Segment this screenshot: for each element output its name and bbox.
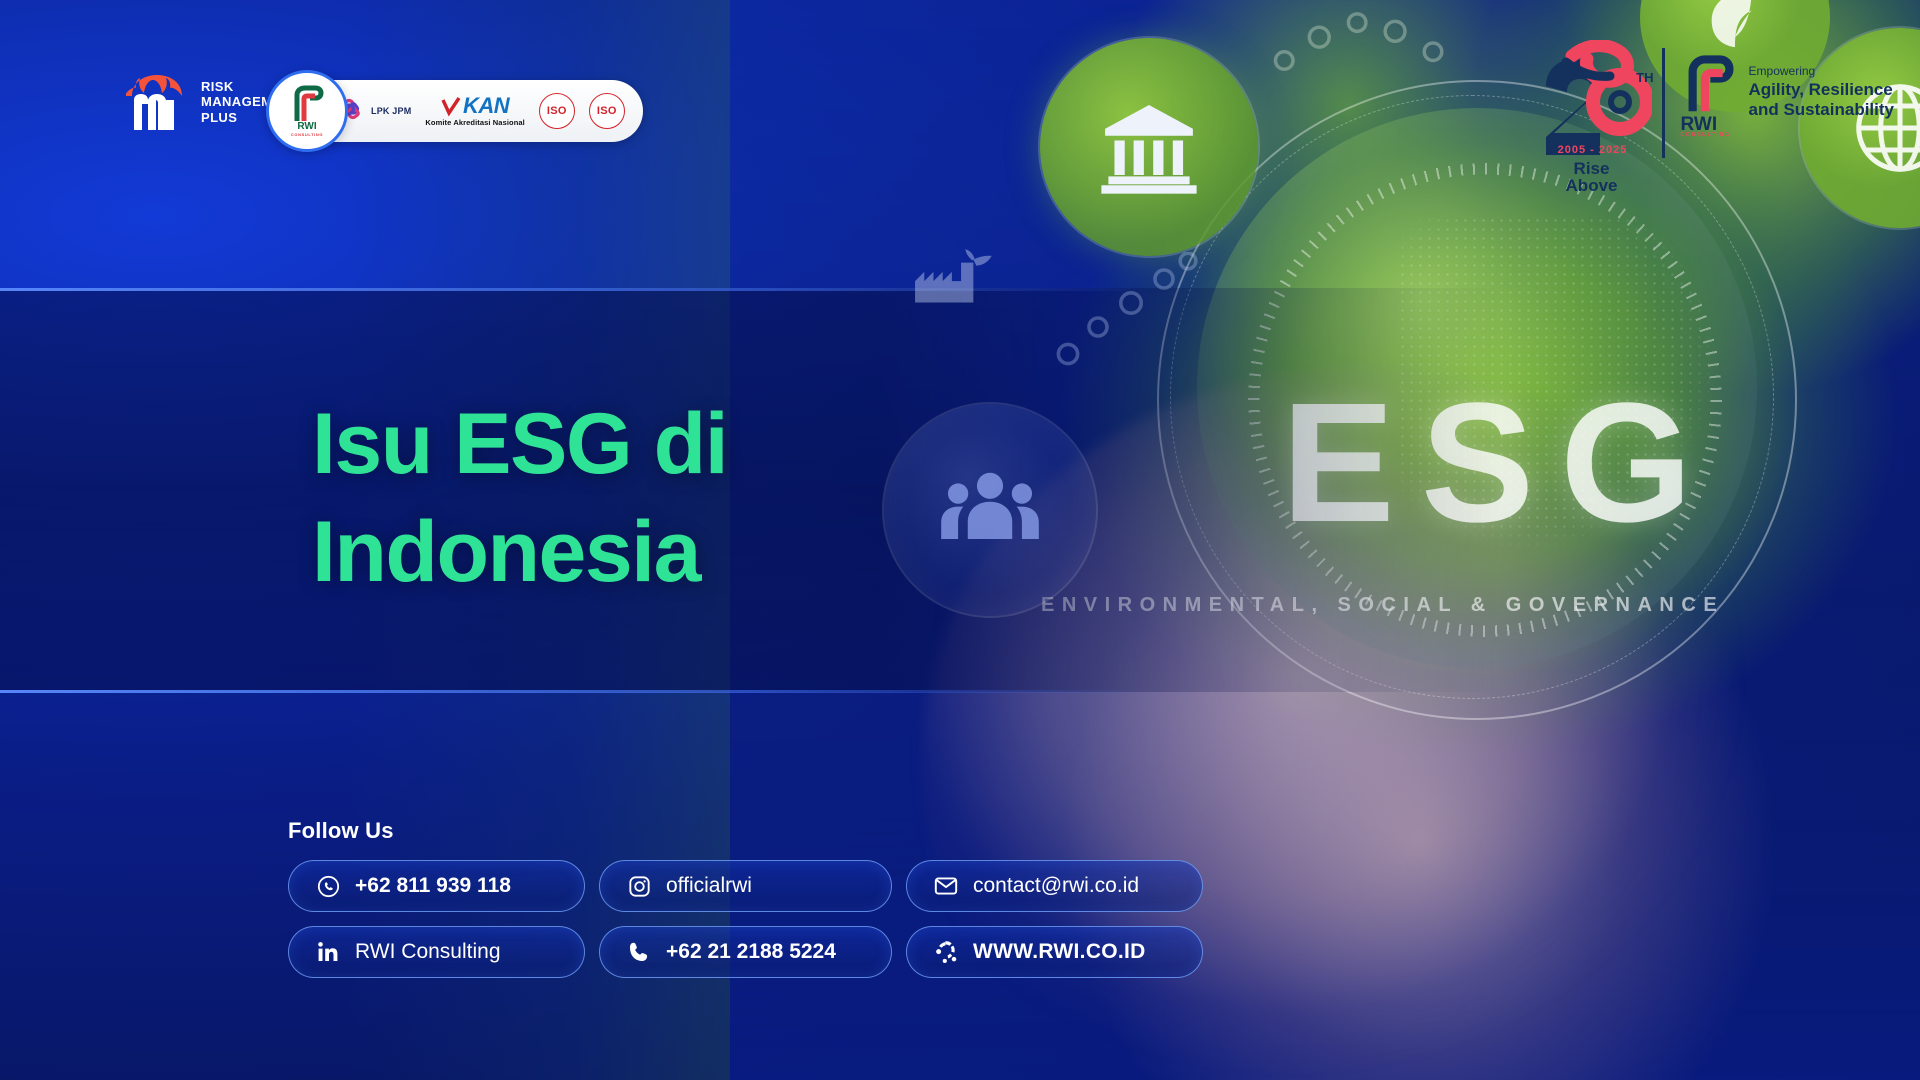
headline-band-bottom-line xyxy=(0,690,1152,693)
anniversary-lockup: TH 2005 - 2025 Rise Above RWI CONSULTING… xyxy=(1532,40,1894,180)
linkedin-icon xyxy=(315,939,341,965)
anniversary-ordinal: TH xyxy=(1636,70,1653,85)
lpk-jpm-label: LPK JPM xyxy=(371,106,411,116)
kan-label: KAN xyxy=(463,96,509,117)
contact-chip-linkedin-label: RWI Consulting xyxy=(355,940,501,964)
environment-factory-leaf-icon xyxy=(912,238,1004,323)
anniversary-tagline: Rise Above xyxy=(1532,160,1652,194)
page-title-line-2: Indonesia xyxy=(312,498,727,606)
anniversary-20-icon xyxy=(1532,40,1652,160)
rwi-tagline-line2: Agility, Resilience xyxy=(1749,80,1894,100)
whatsapp-icon xyxy=(315,873,341,899)
contact-chip-instagram[interactable]: officialrwi xyxy=(599,860,892,912)
network-node-dots xyxy=(1050,252,1200,377)
rwi-logo-icon: RWI CONSULTING xyxy=(1681,54,1737,128)
follow-us-label: Follow Us xyxy=(288,818,1203,844)
certification-badges-pill: RWI CONSULTING LPK JPM KAN Komite Akredi… xyxy=(272,80,643,142)
anniversary-20-mark: TH 2005 - 2025 Rise Above xyxy=(1532,40,1652,180)
anniversary-tagline-line1: Rise xyxy=(1532,160,1652,177)
iso-badge-2: ISO xyxy=(589,93,625,129)
phone-icon xyxy=(626,939,652,965)
contact-row-1: +62 811 939 118 officialrwi contact@rwi.… xyxy=(288,860,1203,912)
rwi-badge-sublabel: CONSULTING xyxy=(291,132,323,137)
kan-sublabel: Komite Akreditasi Nasional xyxy=(425,118,524,127)
contact-chip-whatsapp[interactable]: +62 811 939 118 xyxy=(288,860,585,912)
contact-row-2: RWI Consulting +62 21 2188 5224 xyxy=(288,926,1203,978)
contact-footer: Follow Us +62 811 939 118 officialrwi xyxy=(288,818,1203,992)
header-bar: RISK MANAGEMENT PLUS RWI CONSULTING LPK … xyxy=(0,0,1920,180)
contact-chip-website-label: WWW.RWI.CO.ID xyxy=(973,940,1146,964)
lockup-divider xyxy=(1662,48,1665,158)
rwi-round-badge: RWI CONSULTING xyxy=(266,70,348,152)
rwi-logo-text: RWI xyxy=(1681,117,1737,132)
umbrella-rm-monogram-icon xyxy=(126,70,188,134)
rwi-badge-label: RWI xyxy=(297,121,316,132)
anniversary-tagline-line2: Above xyxy=(1532,177,1652,194)
email-icon xyxy=(933,873,959,899)
iso-badge-1: ISO xyxy=(539,93,575,129)
rwi-logo-sub: CONSULTING xyxy=(1681,132,1737,138)
rwi-tagline: Empowering Agility, Resilience and Susta… xyxy=(1749,63,1894,120)
rwi-logo-lockup[interactable]: RWI CONSULTING Empowering Agility, Resil… xyxy=(1681,54,1894,128)
contact-chip-instagram-label: officialrwi xyxy=(666,874,752,898)
contact-chip-email[interactable]: contact@rwi.co.id xyxy=(906,860,1203,912)
social-people-circle-icon xyxy=(884,404,1096,616)
website-icon xyxy=(933,939,959,965)
kan-badge: KAN Komite Akreditasi Nasional xyxy=(425,96,524,127)
contact-chip-email-label: contact@rwi.co.id xyxy=(973,874,1139,898)
contact-chip-website[interactable]: WWW.RWI.CO.ID xyxy=(906,926,1203,978)
anniversary-years: 2005 - 2025 xyxy=(1538,144,1648,156)
kan-check-icon xyxy=(441,96,461,118)
rwi-tagline-line1: Empowering xyxy=(1749,64,1816,78)
contact-chip-whatsapp-label: +62 811 939 118 xyxy=(355,874,511,898)
instagram-icon xyxy=(626,873,652,899)
page-title: Isu ESG di Indonesia xyxy=(312,390,727,606)
rwi-tagline-line3: and Sustainability xyxy=(1749,100,1894,120)
contact-chip-phone[interactable]: +62 21 2188 5224 xyxy=(599,926,892,978)
contact-chip-phone-label: +62 21 2188 5224 xyxy=(666,940,836,964)
contact-chip-linkedin[interactable]: RWI Consulting xyxy=(288,926,585,978)
page-title-line-1: Isu ESG di xyxy=(312,390,727,498)
